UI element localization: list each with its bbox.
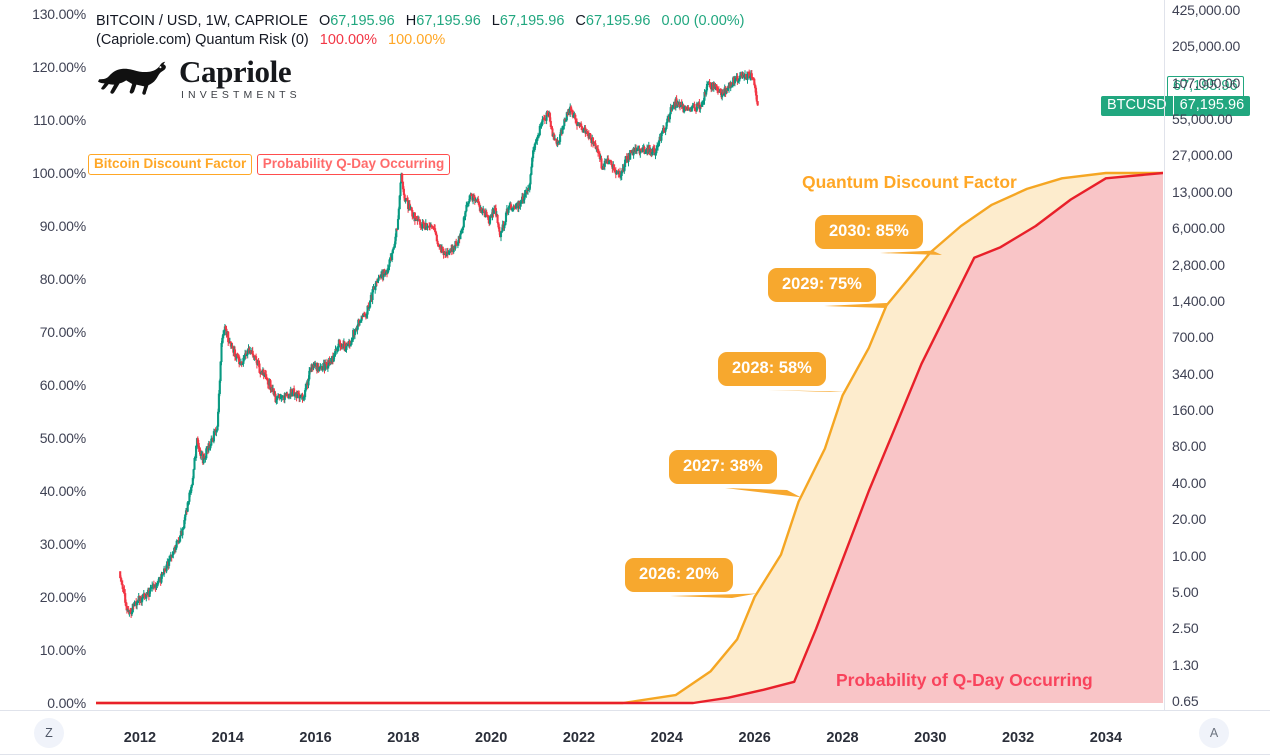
x-tick: 2030 — [914, 730, 946, 746]
candle-body — [486, 212, 488, 215]
y-left-tick: 10.00% — [40, 642, 86, 658]
candlestick-series — [119, 70, 758, 618]
x-tick: 2014 — [212, 730, 244, 746]
candle-body — [401, 174, 403, 182]
candle-body — [757, 101, 759, 105]
candle-body — [391, 253, 393, 260]
y-right-tick: 107,000.00 — [1172, 75, 1240, 91]
y-right-tick: 425,000.00 — [1172, 2, 1240, 18]
candle-body — [455, 241, 457, 244]
candle-body — [499, 227, 501, 231]
x-tick: 2022 — [563, 730, 595, 746]
y-right-tick: 55,000.00 — [1172, 111, 1232, 127]
candle-body — [559, 135, 561, 142]
candle-body — [305, 384, 307, 390]
axis-separator-right — [1164, 0, 1165, 711]
zoom-reset-button[interactable]: Z — [34, 718, 64, 748]
y-right-tick: 340.00 — [1172, 366, 1214, 382]
x-tick: 2026 — [739, 730, 771, 746]
x-tick: 2034 — [1090, 730, 1122, 746]
candle-body — [398, 209, 400, 219]
candle-body — [501, 231, 503, 232]
candle-body — [756, 95, 758, 101]
y-right-tick: 205,000.00 — [1172, 38, 1240, 54]
annotation-quantum-discount-factor-title: Quantum Discount Factor — [802, 172, 1017, 193]
y-left-tick: 60.00% — [40, 377, 86, 393]
y-left-tick: 50.00% — [40, 430, 86, 446]
x-tick: 2028 — [826, 730, 858, 746]
candle-body — [206, 449, 208, 458]
y-right-tick: 5.00 — [1172, 584, 1198, 600]
x-tick: 2018 — [387, 730, 419, 746]
y-right-tick: 160.00 — [1172, 402, 1214, 418]
candle-body — [400, 183, 402, 196]
x-tick: 2016 — [299, 730, 331, 746]
candle-body — [531, 167, 533, 175]
candle-body — [378, 278, 380, 281]
candle-body — [530, 175, 532, 185]
x-tick: 2012 — [124, 730, 156, 746]
y-right-tick: 80.00 — [1172, 438, 1206, 454]
candle-body — [350, 345, 352, 347]
candle-body — [500, 232, 502, 236]
candle-body — [710, 83, 712, 88]
candle-body — [292, 393, 294, 396]
callout-2026: 2026: 20% — [625, 558, 733, 592]
y-left-tick: 20.00% — [40, 589, 86, 605]
candle-body — [497, 215, 499, 223]
y-left-tick: 40.00% — [40, 483, 86, 499]
x-tick: 2020 — [475, 730, 507, 746]
candle-body — [751, 74, 753, 78]
y-right-tick: 0.65 — [1172, 693, 1198, 709]
candle-body — [218, 394, 220, 412]
candle-body — [504, 225, 506, 228]
y-left-tick: 90.00% — [40, 218, 86, 234]
x-tick: 2032 — [1002, 730, 1034, 746]
chart-frame: BITCOIN / USD, 1W, CAPRIOLE O67,195.96 H… — [0, 0, 1270, 755]
candle-body — [468, 201, 470, 203]
y-right-tick: 700.00 — [1172, 329, 1214, 345]
y-axis-right[interactable]: 425,000.00205,000.00107,000.0055,000.002… — [1167, 0, 1270, 711]
plot-svg — [96, 8, 1163, 708]
area-probability-qday — [96, 173, 1163, 703]
callout-2030: 2030: 85% — [815, 215, 923, 249]
y-right-tick: 40.00 — [1172, 475, 1206, 491]
y-right-tick: 10.00 — [1172, 548, 1206, 564]
y-right-tick: 2,800.00 — [1172, 257, 1225, 273]
y-right-tick: 1,400.00 — [1172, 293, 1225, 309]
y-axis-left[interactable]: 130.00%120.00%110.00%100.00%90.00%80.00%… — [0, 0, 92, 711]
plot-area[interactable] — [96, 8, 1163, 708]
auto-scale-button[interactable]: A — [1199, 718, 1229, 748]
y-left-tick: 30.00% — [40, 536, 86, 552]
y-right-tick: 27,000.00 — [1172, 147, 1232, 163]
y-right-tick: 13,000.00 — [1172, 184, 1232, 200]
y-right-tick: 6,000.00 — [1172, 220, 1225, 236]
y-left-tick: 110.00% — [33, 112, 86, 128]
candle-body — [397, 219, 399, 229]
callout-2027: 2027: 38% — [669, 450, 777, 484]
candle-body — [194, 458, 196, 469]
candle-body — [193, 470, 195, 479]
candle-body — [412, 210, 414, 216]
x-tick: 2024 — [651, 730, 683, 746]
candle-body — [466, 205, 468, 211]
candle-body — [267, 379, 269, 384]
candle-body — [483, 210, 485, 212]
y-right-tick: 2.50 — [1172, 620, 1198, 636]
y-left-tick: 70.00% — [40, 324, 86, 340]
y-right-tick: 1.30 — [1172, 657, 1198, 673]
candle-body — [217, 412, 219, 426]
candle-body — [255, 357, 257, 360]
callout-2028: 2028: 58% — [718, 352, 826, 386]
candle-body — [590, 134, 592, 138]
candle-body — [488, 216, 490, 220]
y-left-tick: 0.00% — [47, 695, 86, 711]
x-axis[interactable]: 2012201420162018202020222024202620282030… — [0, 711, 1270, 755]
candle-body — [294, 394, 296, 396]
callout-2029: 2029: 75% — [768, 268, 876, 302]
annotation-probability-qday-title: Probability of Q-Day Occurring — [836, 670, 1093, 691]
y-left-tick: 130.00% — [32, 6, 86, 22]
y-left-tick: 120.00% — [32, 59, 86, 75]
y-right-tick: 20.00 — [1172, 511, 1206, 527]
price-tag-symbol: BTCUSD — [1101, 96, 1173, 116]
y-left-tick: 100.00% — [32, 165, 86, 181]
y-left-tick: 80.00% — [40, 271, 86, 287]
